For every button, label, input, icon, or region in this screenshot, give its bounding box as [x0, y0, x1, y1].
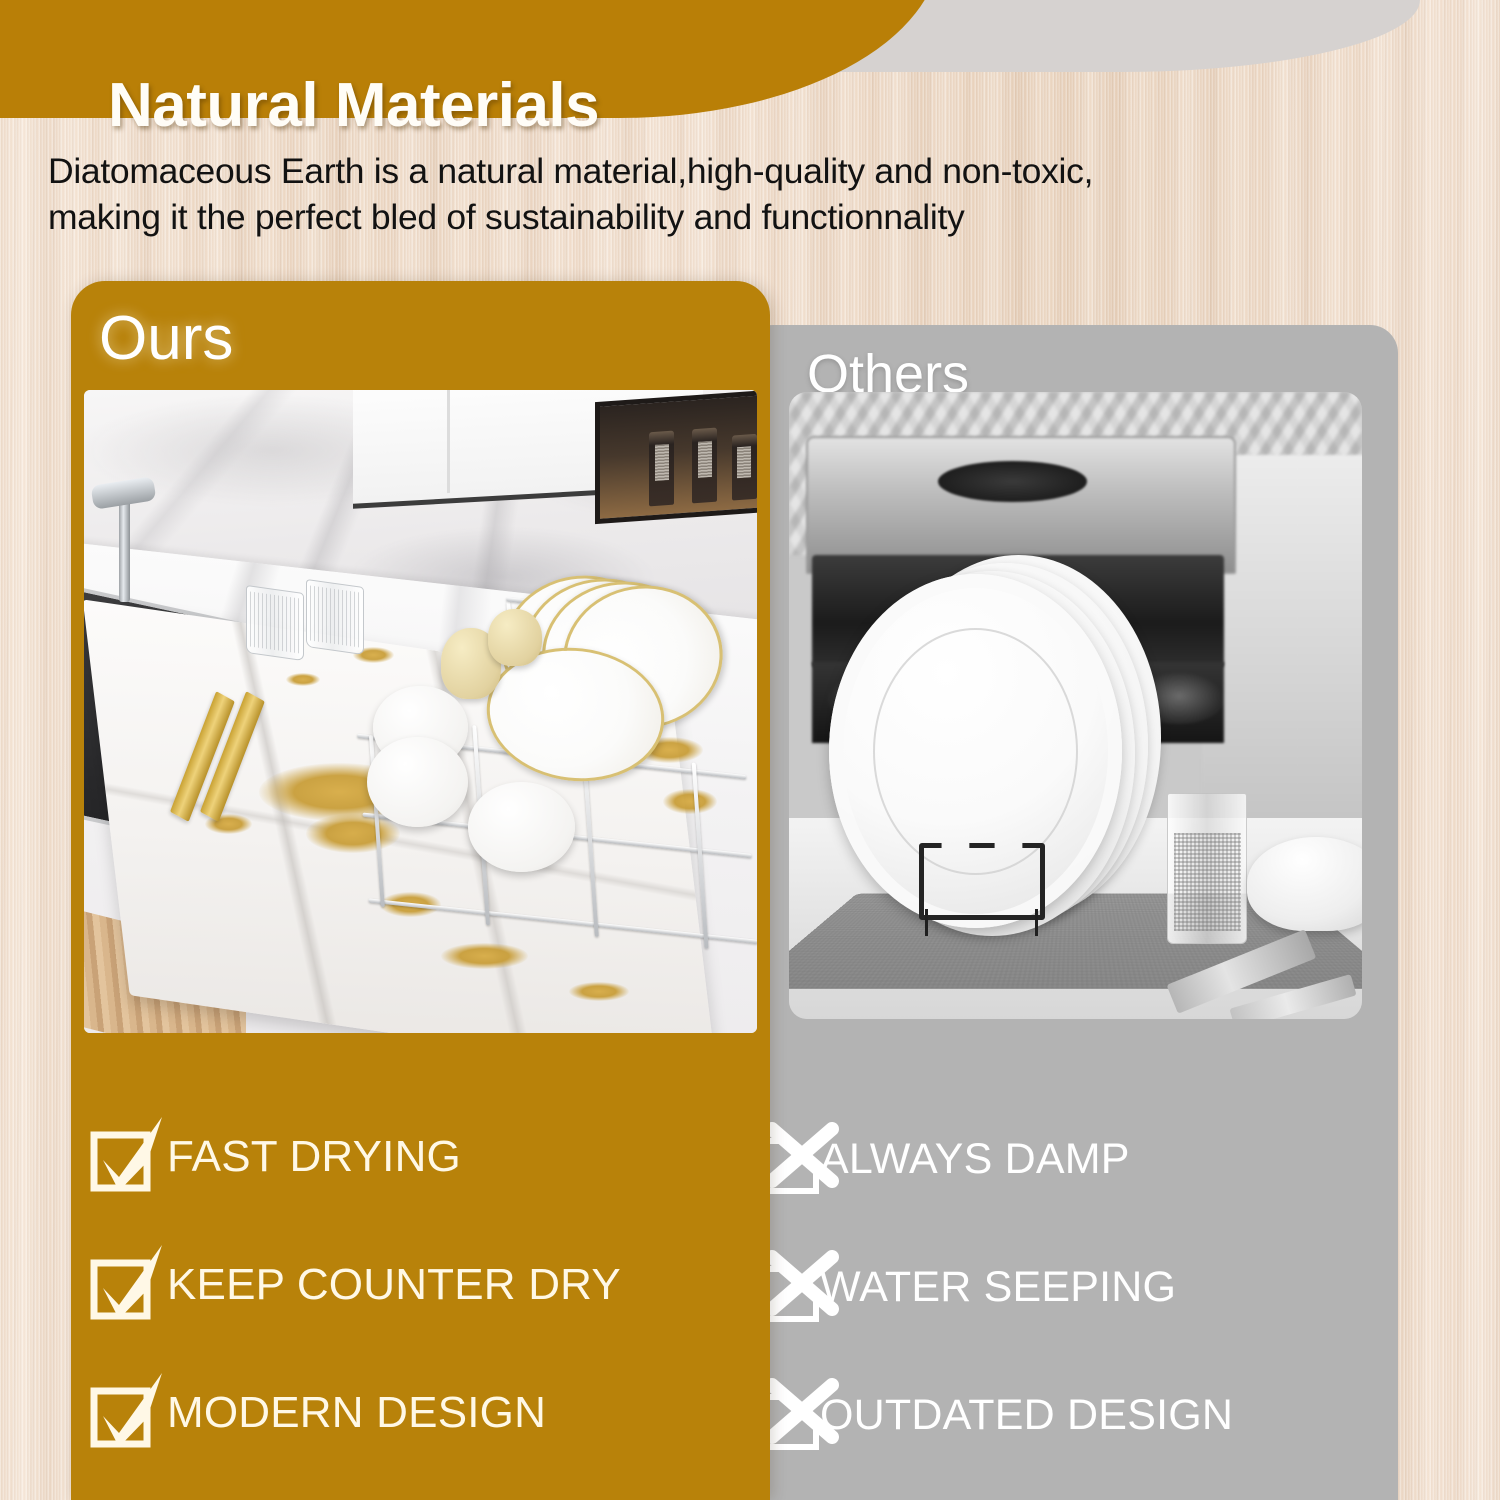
checkbox-crossed-icon: [762, 1131, 818, 1187]
feature-row: KEEP COUNTER DRY: [71, 1221, 770, 1349]
ours-panel: Ours: [71, 281, 770, 1500]
feature-label: WATER SEEPING: [820, 1263, 1176, 1312]
ours-product-photo: [84, 390, 757, 1033]
page-title: Natural Materials: [108, 70, 599, 141]
feature-row: WATER SEEPING: [745, 1223, 1398, 1351]
subtitle-line-2: making it the perfect bled of sustainabi…: [48, 194, 1458, 240]
checkbox-checked-icon: [93, 1257, 149, 1313]
checkbox-crossed-icon: [762, 1387, 818, 1443]
checkbox-checked-icon: [93, 1129, 149, 1185]
checkbox-checked-icon: [93, 1385, 149, 1441]
feature-label: ALWAYS DAMP: [820, 1135, 1130, 1184]
ours-feature-list: FAST DRYING KEEP COUNTER DRY MODERN DESI…: [71, 1093, 770, 1477]
feature-label: OUTDATED DESIGN: [820, 1391, 1233, 1440]
feature-label: MODERN DESIGN: [167, 1388, 546, 1438]
checkbox-crossed-icon: [762, 1259, 818, 1315]
feature-row: MODERN DESIGN: [71, 1349, 770, 1477]
feature-row: FAST DRYING: [71, 1093, 770, 1221]
others-feature-list: ALWAYS DAMP WATER SEEPING: [745, 1095, 1398, 1479]
subtitle-line-1: Diatomaceous Earth is a natural material…: [48, 148, 1458, 194]
others-product-photo: [789, 392, 1362, 1019]
feature-row: OUTDATED DESIGN: [745, 1351, 1398, 1479]
subtitle-text: Diatomaceous Earth is a natural material…: [48, 148, 1458, 240]
others-panel: Others: [745, 325, 1398, 1500]
feature-label: KEEP COUNTER DRY: [167, 1260, 621, 1310]
feature-row: ALWAYS DAMP: [745, 1095, 1398, 1223]
feature-label: FAST DRYING: [167, 1132, 461, 1182]
ours-heading: Ours: [99, 303, 233, 374]
